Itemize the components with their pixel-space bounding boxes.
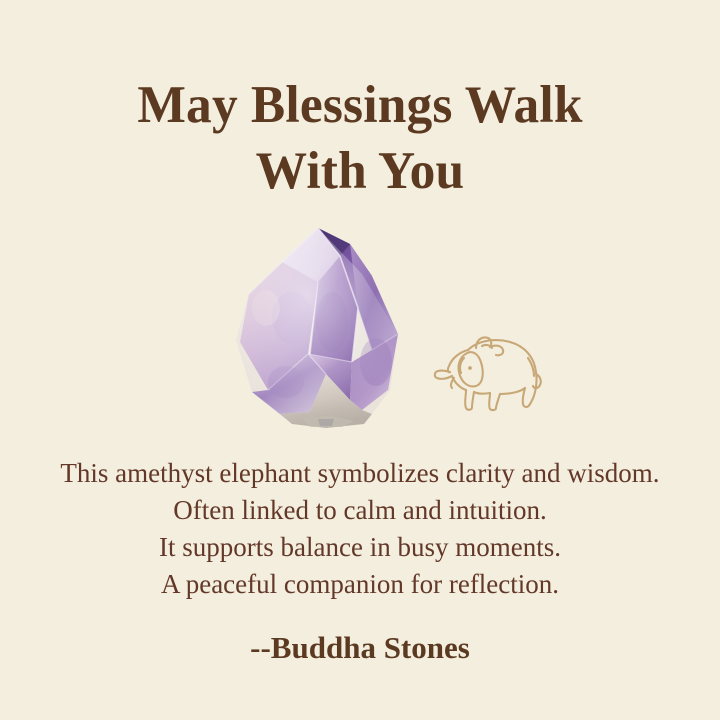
description-line-3: It supports balance in busy moments. <box>0 529 720 566</box>
elephant-line-icon <box>424 324 544 416</box>
description-text: This amethyst elephant symbolizes clarit… <box>0 455 720 603</box>
description-line-4: A peaceful companion for reflection. <box>0 566 720 603</box>
page-title-line-2: With You <box>11 138 709 204</box>
page-title-line-1: May Blessings Walk <box>11 72 709 138</box>
description-line-1: This amethyst elephant symbolizes clarit… <box>0 455 720 492</box>
amethyst-crystal-image <box>222 222 418 430</box>
page-title: May Blessings Walk With You <box>11 72 709 204</box>
description-line-2: Often linked to calm and intuition. <box>0 492 720 529</box>
brand-signature: --Buddha Stones <box>0 629 720 667</box>
promo-card: May Blessings Walk With You <box>0 0 720 720</box>
artwork-area <box>0 222 720 437</box>
